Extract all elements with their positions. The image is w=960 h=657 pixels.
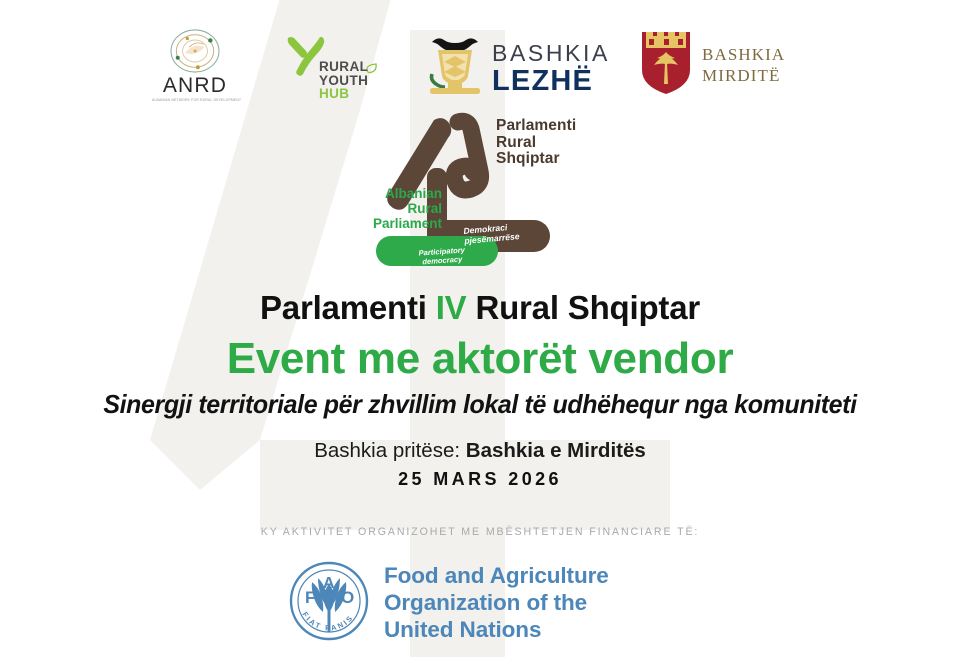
arp-title-en-line3: Parliament <box>332 216 442 231</box>
arp-title-sq-line3: Shqiptar <box>496 151 576 168</box>
partner-logo-rural-youth-hub[interactable]: RURAL YOUTH HUB <box>282 34 392 104</box>
arp-title-sq-line2: Rural <box>496 135 576 152</box>
series-title-numeral: IV <box>436 289 467 326</box>
fao-emblem-icon: F A O FIAT PANIS <box>288 560 370 642</box>
host-value: Bashkia e Mirditës <box>466 439 646 462</box>
albanian-rural-parliament-logo[interactable]: Parlamenti Rural Shqiptar Albanian Rural… <box>330 108 630 276</box>
arp-title-sq: Parlamenti Rural Shqiptar <box>496 118 576 168</box>
anrd-orbit-emblem <box>166 28 224 74</box>
host-label: Bashkia pritëse: <box>314 439 466 462</box>
lezhe-line-lezhe: LEZHË <box>492 66 610 96</box>
arp-title-en-line2: Rural <box>332 201 442 216</box>
fao-wordmark-line1: Food and Agriculture <box>384 562 609 589</box>
series-title-post: Rural Shqiptar <box>466 289 700 326</box>
headline-block: Parlamenti IV Rural Shqiptar Event me ak… <box>0 288 960 491</box>
mirdite-line-mirdite: MIRDITË <box>702 65 785 86</box>
arp-title-en: Albanian Rural Parliament <box>332 186 442 231</box>
poster-canvas: ANRD ALBANIAN NETWORK FOR RURAL DEVELOPM… <box>0 0 960 657</box>
event-date: 25 MARS 2026 <box>0 467 960 491</box>
partner-logo-anrd[interactable]: ANRD ALBANIAN NETWORK FOR RURAL DEVELOPM… <box>152 28 238 102</box>
lezhe-line-bashkia: BASHKIA <box>492 40 610 66</box>
ryh-line-youth: YOUTH <box>319 74 368 88</box>
mirdite-wordmark: BASHKIA MIRDITË <box>702 44 785 86</box>
ryh-line-rural: RURAL <box>319 60 368 74</box>
rural-youth-hub-wordmark: RURAL YOUTH HUB <box>319 60 368 101</box>
ryh-line-hub: HUB <box>319 87 368 101</box>
mirdite-line-bashkia: BASHKIA <box>702 44 785 65</box>
fao-wordmark-line2: Organization of the <box>384 589 609 616</box>
lezhe-wordmark: BASHKIA LEZHË <box>492 40 610 96</box>
fao-logo[interactable]: F A O FIAT PANIS Food and Agriculture Or… <box>288 558 678 644</box>
anrd-wordmark: ANRD <box>152 75 238 96</box>
funder-note: KY AKTIVITET ORGANIZOHET ME MBËSHTETJEN … <box>0 526 960 538</box>
arp-title-sq-line1: Parlamenti <box>496 118 576 135</box>
partner-logo-row: ANRD ALBANIAN NETWORK FOR RURAL DEVELOPM… <box>0 14 960 100</box>
anrd-subtitle: ALBANIAN NETWORK FOR RURAL DEVELOPMENT <box>152 98 238 102</box>
mirdite-shield-icon <box>640 30 692 96</box>
fao-wordmark-line3: United Nations <box>384 616 609 643</box>
svg-text:O: O <box>341 588 354 607</box>
svg-text:A: A <box>323 575 335 592</box>
lezhe-crest-icon <box>424 32 486 98</box>
host-municipality: Bashkia pritëse: Bashkia e Mirditës <box>0 438 960 464</box>
event-title: Event me aktorët vendor <box>0 334 960 384</box>
arp-title-en-line1: Albanian <box>332 186 442 201</box>
event-series-title: Parlamenti IV Rural Shqiptar <box>0 288 960 328</box>
event-subtitle: Sinergji territoriale për zhvillim lokal… <box>19 388 941 420</box>
svg-text:F: F <box>305 588 315 607</box>
fao-wordmark: Food and Agriculture Organization of the… <box>384 562 609 643</box>
series-title-pre: Parlamenti <box>260 289 436 326</box>
